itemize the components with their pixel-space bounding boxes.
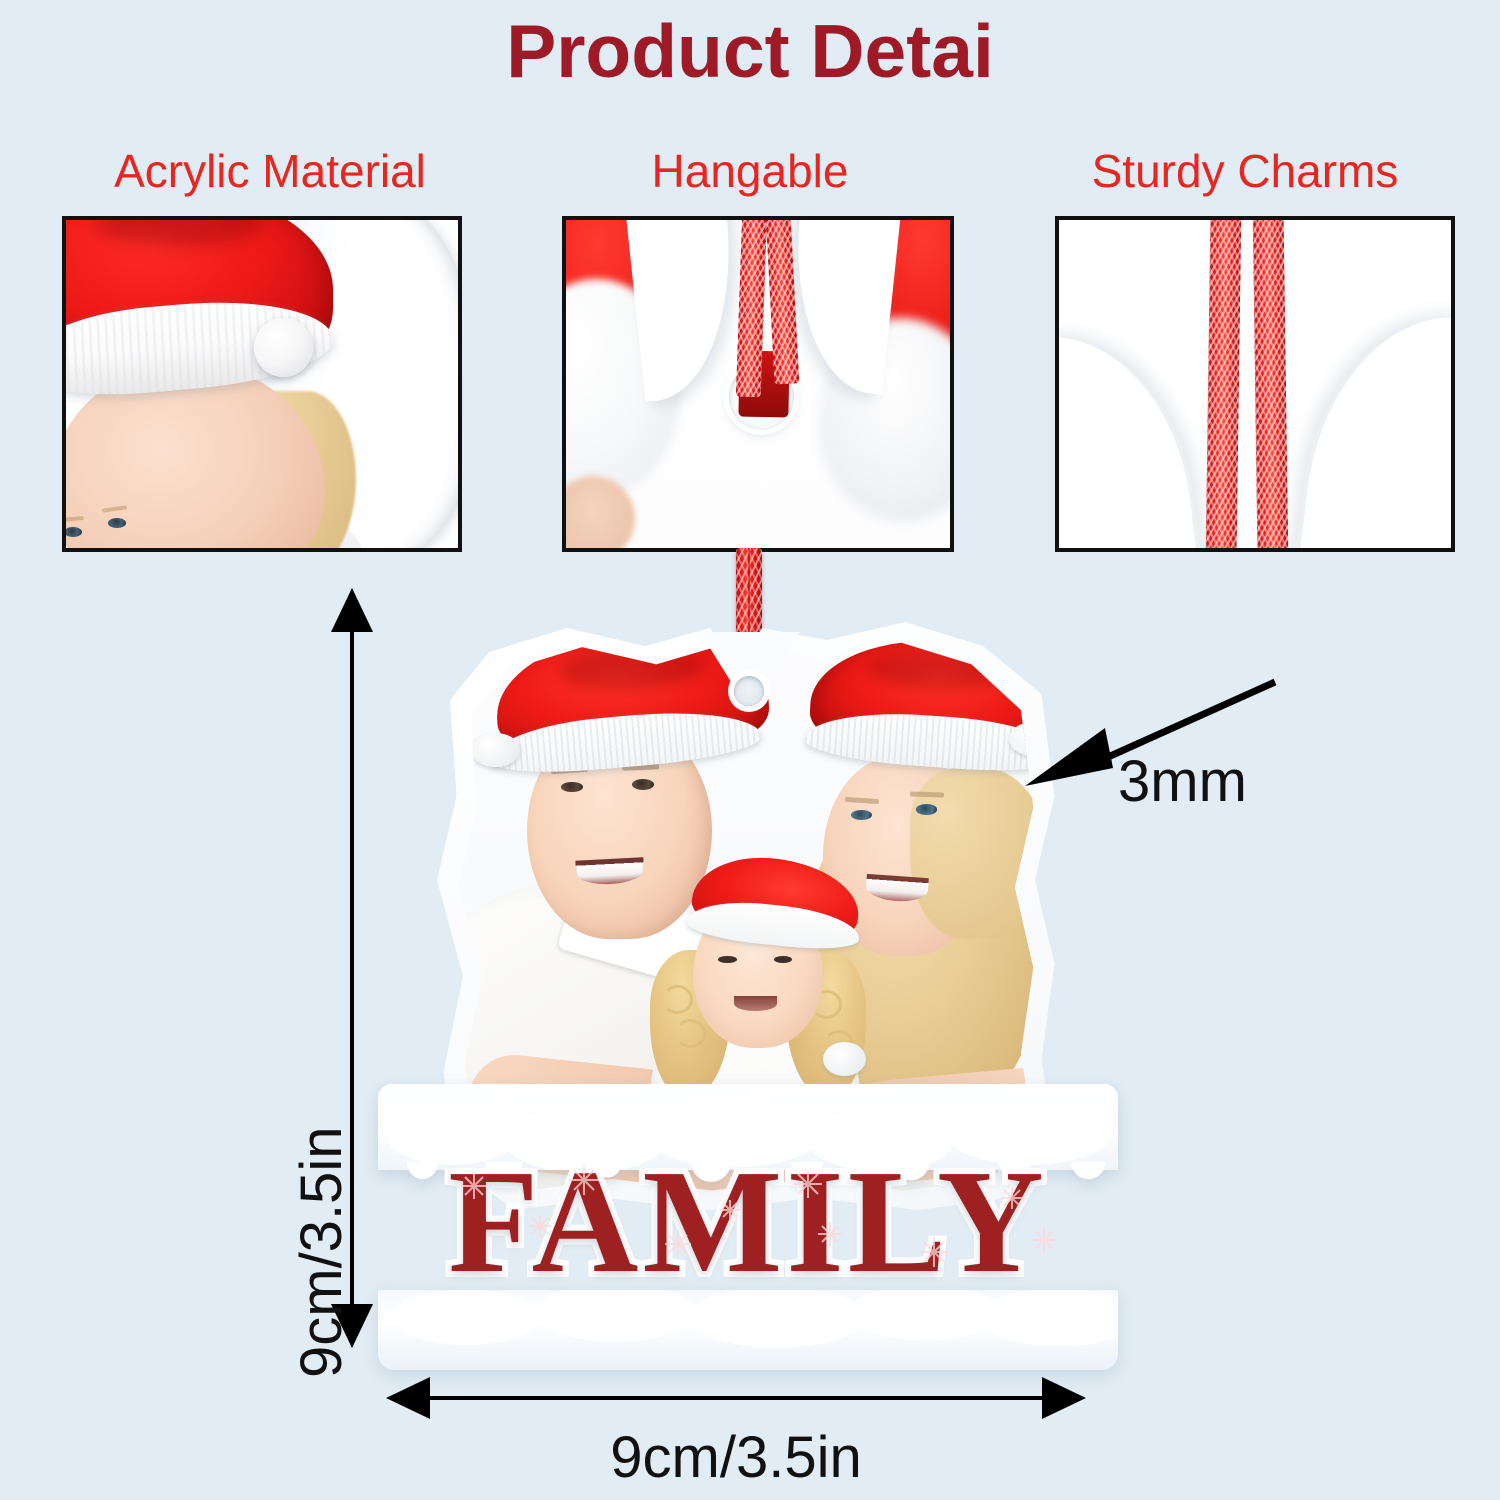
child-hair-curl [662,985,693,1014]
height-dimension-label: 9cm/3.5in [288,1127,355,1378]
thickness-label: 3mm [1118,748,1247,815]
cord-closeup-photo [1059,220,1451,548]
child-hair-curl [675,1019,706,1048]
eyebrow-right [102,505,127,512]
page-title: Product Detai [0,14,1500,89]
arrow-head-right-icon [1042,1377,1086,1419]
father-eye-right [632,779,654,790]
width-dimension-arrow [386,1394,1086,1402]
mother-eye-right [916,804,937,814]
ornament-hanging-hole [734,676,764,706]
braided-cord-strand-left [1206,220,1242,548]
feature-image-hangable [562,216,954,552]
eye-left [66,527,82,537]
eyebrow-left [66,516,83,522]
arrow-shaft [422,1396,1050,1400]
width-dimension-label: 9cm/3.5in [386,1424,1086,1491]
main-ornament: FAMILY [378,548,1118,1368]
father-eye-left [561,782,583,793]
feature-title-acrylic-material: Acrylic Material [40,148,500,194]
santa-hat-pompom [254,318,313,377]
braided-cord-strand-right [1253,220,1289,548]
acrylic-closeup-photo [66,220,458,548]
height-dimension-arrow: 9cm/3.5in [348,588,356,1348]
feature-image-acrylic-material [62,216,462,552]
family-text: FAMILY [378,1148,1118,1296]
eye-right [108,518,126,528]
feature-title-sturdy-charms: Sturdy Charms [1020,148,1470,194]
hanging-hole-closeup-photo [566,220,950,548]
feature-title-hangable: Hangable [540,148,960,194]
child-smile [734,996,777,1011]
feature-image-sturdy-charms [1055,216,1455,552]
product-detail-page: Product Detai Acrylic Material Hangable … [0,0,1500,1500]
